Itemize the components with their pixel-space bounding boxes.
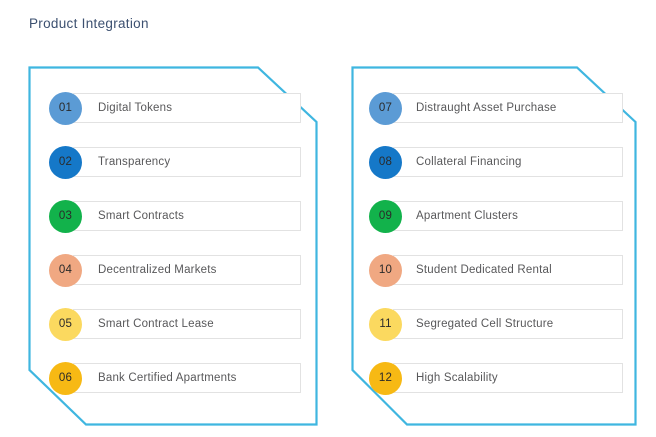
step-badge: 12 (369, 362, 402, 395)
item-label: Decentralized Markets (74, 264, 217, 276)
list-item[interactable]: 06 Bank Certified Apartments (49, 358, 301, 398)
label-box[interactable]: Transparency (73, 147, 301, 177)
item-label: Segregated Cell Structure (394, 318, 553, 330)
step-badge: 11 (369, 308, 402, 341)
step-badge: 06 (49, 362, 82, 395)
label-box[interactable]: Bank Certified Apartments (73, 363, 301, 393)
list-item[interactable]: 10 Student Dedicated Rental (369, 250, 623, 290)
infographic-canvas: Product Integration 01 Digital Tokens 02… (0, 0, 656, 437)
page-title: Product Integration (29, 16, 149, 31)
list-item[interactable]: 12 High Scalability (369, 358, 623, 398)
list-item[interactable]: 08 Collateral Financing (369, 142, 623, 182)
list-item[interactable]: 04 Decentralized Markets (49, 250, 301, 290)
label-box[interactable]: Apartment Clusters (393, 201, 623, 231)
step-badge: 08 (369, 146, 402, 179)
label-box[interactable]: Collateral Financing (393, 147, 623, 177)
item-label: Transparency (74, 156, 170, 168)
item-label: Smart Contract Lease (74, 318, 214, 330)
item-label: Distraught Asset Purchase (394, 102, 557, 114)
step-badge: 02 (49, 146, 82, 179)
step-badge: 05 (49, 308, 82, 341)
label-box[interactable]: Smart Contract Lease (73, 309, 301, 339)
item-label: Digital Tokens (74, 102, 172, 114)
label-box[interactable]: Smart Contracts (73, 201, 301, 231)
step-badge: 04 (49, 254, 82, 287)
step-badge: 01 (49, 92, 82, 125)
step-badge: 10 (369, 254, 402, 287)
item-label: Smart Contracts (74, 210, 184, 222)
label-box[interactable]: Digital Tokens (73, 93, 301, 123)
left-panel-rows: 01 Digital Tokens 02 Transparency 03 Sma… (28, 66, 318, 426)
item-label: Apartment Clusters (394, 210, 518, 222)
list-item[interactable]: 07 Distraught Asset Purchase (369, 88, 623, 128)
step-badge: 07 (369, 92, 402, 125)
item-label: High Scalability (394, 372, 498, 384)
list-item[interactable]: 09 Apartment Clusters (369, 196, 623, 236)
list-item[interactable]: 02 Transparency (49, 142, 301, 182)
left-panel: 01 Digital Tokens 02 Transparency 03 Sma… (28, 66, 318, 426)
item-label: Student Dedicated Rental (394, 264, 552, 276)
label-box[interactable]: Student Dedicated Rental (393, 255, 623, 285)
item-label: Bank Certified Apartments (74, 372, 237, 384)
list-item[interactable]: 11 Segregated Cell Structure (369, 304, 623, 344)
label-box[interactable]: Decentralized Markets (73, 255, 301, 285)
item-label: Collateral Financing (394, 156, 522, 168)
label-box[interactable]: High Scalability (393, 363, 623, 393)
right-panel-rows: 07 Distraught Asset Purchase 08 Collater… (351, 66, 637, 426)
right-panel: 07 Distraught Asset Purchase 08 Collater… (351, 66, 637, 426)
step-badge: 09 (369, 200, 402, 233)
label-box[interactable]: Distraught Asset Purchase (393, 93, 623, 123)
list-item[interactable]: 03 Smart Contracts (49, 196, 301, 236)
list-item[interactable]: 05 Smart Contract Lease (49, 304, 301, 344)
list-item[interactable]: 01 Digital Tokens (49, 88, 301, 128)
label-box[interactable]: Segregated Cell Structure (393, 309, 623, 339)
step-badge: 03 (49, 200, 82, 233)
